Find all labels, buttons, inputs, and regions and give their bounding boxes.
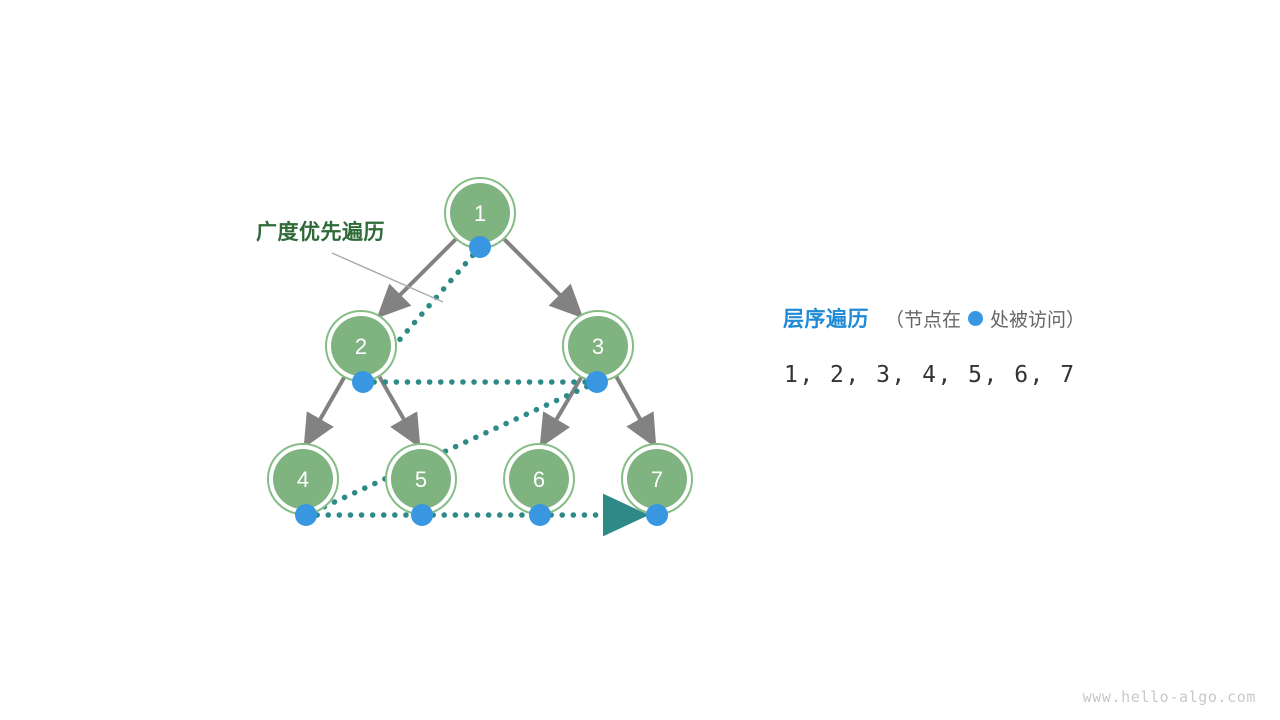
visit-dots <box>295 236 668 526</box>
edge-3-6 <box>542 376 582 444</box>
visit-dot-node-4 <box>295 504 317 526</box>
visit-dot-node-7 <box>646 504 668 526</box>
tree-node-3[interactable]: 3 <box>563 311 633 381</box>
legend-note-before: （节点在 <box>885 305 961 332</box>
watermark: www.hello-algo.com <box>1083 688 1256 706</box>
blue-visit-dot-icon <box>968 311 983 326</box>
bfs-tree-diagram: 1 2 3 4 5 6 7 <box>0 0 1280 720</box>
node-label: 5 <box>415 467 427 492</box>
tree-node-6[interactable]: 6 <box>504 444 574 514</box>
node-label: 6 <box>533 467 545 492</box>
node-label: 3 <box>592 334 604 359</box>
legend-note: （节点在 处被访问） <box>885 305 1085 332</box>
edge-2-5 <box>379 376 418 444</box>
tree-node-4[interactable]: 4 <box>268 444 338 514</box>
node-label: 4 <box>297 467 309 492</box>
tree-node-2[interactable]: 2 <box>326 311 396 381</box>
visit-dot-node-3 <box>586 371 608 393</box>
tree-node-7[interactable]: 7 <box>622 444 692 514</box>
traversal-sequence: 1, 2, 3, 4, 5, 6, 7 <box>784 362 1076 388</box>
legend: 层序遍历 （节点在 处被访问） <box>783 303 1085 333</box>
annotation-leader-line <box>332 253 443 302</box>
node-label: 2 <box>355 334 367 359</box>
node-label: 7 <box>651 467 663 492</box>
edge-3-7 <box>616 376 654 444</box>
tree-node-5[interactable]: 5 <box>386 444 456 514</box>
edge-2-4 <box>306 376 345 444</box>
bfs-annotation-label: 广度优先遍历 <box>256 216 385 246</box>
edge-1-2 <box>380 236 459 315</box>
edge-1-3 <box>501 236 580 315</box>
legend-title: 层序遍历 <box>783 303 869 333</box>
visit-dot-node-1 <box>469 236 491 258</box>
visit-dot-node-2 <box>352 371 374 393</box>
visit-dot-node-6 <box>529 504 551 526</box>
node-label: 1 <box>474 201 486 226</box>
visit-dot-node-5 <box>411 504 433 526</box>
legend-note-after: 处被访问） <box>990 305 1085 332</box>
